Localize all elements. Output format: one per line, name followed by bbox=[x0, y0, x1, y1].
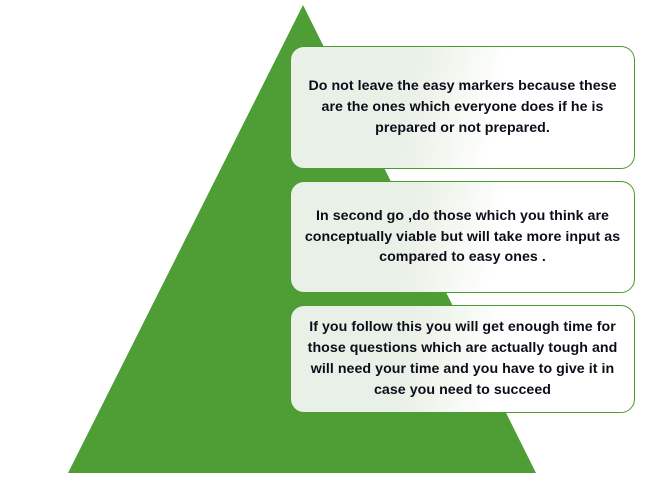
callout-box-1[interactable]: Do not leave the easy markers because th… bbox=[290, 46, 635, 169]
callout-3-text: If you follow this you will get enough t… bbox=[291, 317, 634, 401]
callout-box-2[interactable]: In second go ,do those which you think a… bbox=[290, 181, 635, 293]
callout-1-text: Do not leave the easy markers because th… bbox=[291, 76, 634, 139]
callout-2-text: In second go ,do those which you think a… bbox=[291, 206, 634, 269]
diagram-canvas: Do not leave the easy markers because th… bbox=[0, 0, 647, 489]
callout-box-3[interactable]: If you follow this you will get enough t… bbox=[290, 305, 635, 413]
